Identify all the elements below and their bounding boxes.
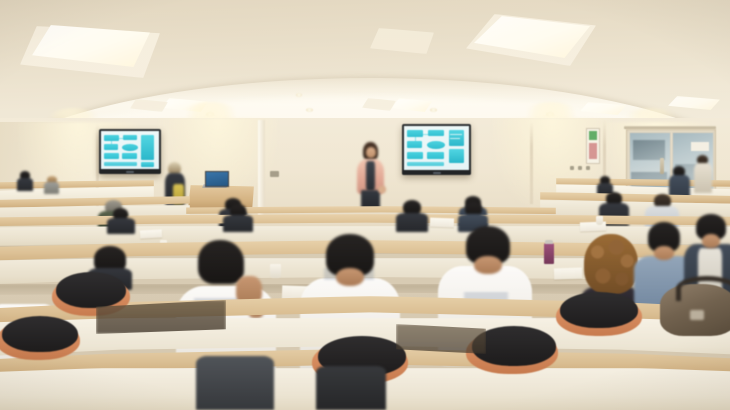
downlight-4 bbox=[430, 108, 437, 112]
slide-side-panel-lower bbox=[141, 162, 154, 167]
slide-side-panel bbox=[141, 135, 154, 160]
wall-notice-sign-green-band bbox=[589, 131, 597, 140]
paper-cup-right bbox=[596, 216, 603, 225]
slide-connector-2 bbox=[111, 141, 112, 144]
auditorium-chair-2[interactable] bbox=[56, 272, 126, 308]
slide-r-text-line bbox=[450, 134, 462, 135]
wall-display-right bbox=[402, 124, 471, 175]
attendee-front-left-legs bbox=[196, 356, 274, 410]
slide-r-block-e bbox=[427, 152, 444, 159]
attendee-row3-left-torso bbox=[107, 218, 135, 234]
wall-display-left bbox=[99, 129, 161, 174]
thermos-cap bbox=[545, 240, 553, 244]
attendee-front-center-legs bbox=[316, 366, 386, 410]
wall-display-right-logo bbox=[433, 172, 441, 174]
slide-block-b bbox=[123, 135, 137, 140]
wall-outlet bbox=[270, 171, 279, 177]
wall-notice-sign bbox=[586, 128, 600, 164]
wall-outlet-right-c bbox=[586, 166, 590, 170]
attendee-near-podium bbox=[164, 162, 190, 212]
slide-block-c bbox=[104, 144, 118, 150]
slide-block-f bbox=[104, 162, 137, 166]
wall-notice-sign-red-band bbox=[589, 143, 597, 159]
laptop[interactable] bbox=[205, 171, 229, 187]
wall-display-left-screen bbox=[101, 131, 159, 169]
auditorium-chair-5[interactable] bbox=[560, 292, 638, 328]
door-handle[interactable] bbox=[660, 158, 664, 174]
attendee-front-left-hair bbox=[198, 240, 244, 284]
attendee-standing-rear-torso bbox=[694, 163, 712, 193]
slide-r-side-panel-lower bbox=[449, 149, 464, 163]
attendee-row3-left bbox=[106, 208, 136, 234]
slide-decision-oval bbox=[122, 144, 138, 151]
downlight-3 bbox=[306, 108, 313, 112]
leather-handbag-strap bbox=[676, 276, 730, 301]
slide-r-decision-oval bbox=[427, 141, 445, 149]
slide-r-connector-2 bbox=[415, 137, 416, 141]
thermos-bottle bbox=[544, 243, 554, 264]
attendee-row3-center-torso bbox=[396, 213, 428, 232]
slide-connector-1 bbox=[119, 138, 123, 139]
slide-block-e bbox=[122, 153, 137, 159]
attendee-front-center-neck bbox=[336, 268, 364, 286]
door-sticker bbox=[691, 142, 709, 151]
attendee-back-left-b bbox=[44, 176, 60, 194]
wall-display-left-logo bbox=[126, 171, 134, 173]
attendee-vest-right-neck bbox=[702, 234, 720, 248]
attendee-back-left-a-torso bbox=[17, 178, 33, 191]
slide-r-block-c bbox=[407, 141, 422, 148]
attendee-back-left-a bbox=[16, 171, 34, 191]
attendee-curly-hair-hair bbox=[584, 234, 638, 294]
leather-handbag-buckle bbox=[690, 310, 704, 320]
wall-outlet-right-b bbox=[578, 166, 582, 170]
slide-r-block-b bbox=[428, 130, 444, 136]
slide-r-block-a bbox=[407, 130, 423, 137]
attendee-standing-rear bbox=[692, 155, 714, 197]
wall-seam-right-a bbox=[530, 122, 533, 204]
door-glass-left-reflection bbox=[633, 140, 665, 160]
attendee-row3-center bbox=[394, 200, 430, 232]
downlight-7 bbox=[296, 93, 302, 97]
chair-gap-shadow-center bbox=[396, 324, 486, 354]
wall-column-center bbox=[258, 120, 265, 216]
presenter-hand-notes bbox=[378, 186, 386, 193]
attendee-row3-center-left bbox=[222, 204, 254, 232]
lecture-hall-photo bbox=[0, 0, 730, 410]
attendee-row3-center-hair bbox=[403, 200, 421, 214]
attendee-front-center-right-neck bbox=[474, 256, 502, 274]
presenter-inner-top bbox=[366, 161, 375, 191]
slide-r-connector-1 bbox=[423, 134, 428, 135]
presenter-face bbox=[366, 147, 376, 158]
slide-block-d bbox=[104, 153, 119, 159]
auditorium-chair-1[interactable] bbox=[2, 316, 78, 352]
slide-r-block-f bbox=[407, 162, 444, 166]
wall-outlet-right bbox=[570, 166, 574, 170]
presenter bbox=[352, 142, 388, 210]
notebook-pages-left bbox=[140, 229, 162, 238]
attendee-blue-shirt-neck bbox=[654, 246, 674, 260]
slide-r-block-d bbox=[407, 152, 423, 159]
attendee-back-left-b-torso bbox=[44, 182, 59, 194]
slide-r-text-line-2 bbox=[450, 138, 460, 139]
wall-display-right-screen bbox=[404, 126, 469, 170]
attendee-row3-center-left-torso bbox=[223, 215, 253, 232]
